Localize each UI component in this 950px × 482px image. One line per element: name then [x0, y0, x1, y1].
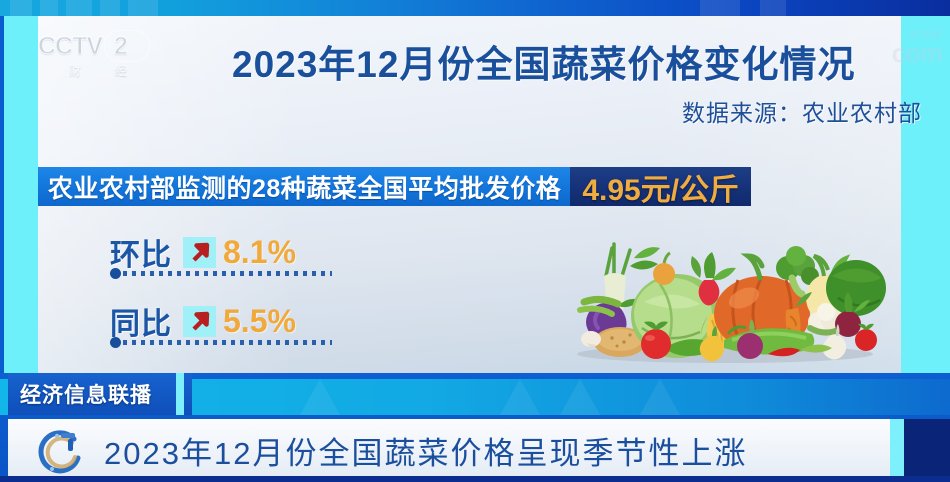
logo-sub-left: 财	[69, 62, 81, 79]
cctv2-logo: CCTV 2 财 经	[38, 32, 150, 84]
stat-value-mom: 8.1%	[223, 234, 296, 271]
logo-sub-right: 经	[115, 62, 127, 79]
bottom-strip	[0, 476, 950, 482]
dotted-underline	[110, 337, 332, 347]
line-start-dot	[110, 268, 121, 279]
cctv-logo-subtitle: 财 经	[52, 62, 144, 79]
cctv-channel-number: 2	[114, 32, 128, 61]
vegetables-illustration	[560, 236, 890, 364]
data-source-label: 数据来源：农业农村部	[682, 94, 922, 128]
up-arrow-icon	[183, 306, 216, 337]
stat-value-yoy: 5.5%	[223, 303, 296, 340]
broadcast-graphic: CCTV 2 财 经 央视网 com 2023年12月份全国蔬菜价格变化情况 数…	[0, 0, 950, 482]
program-ring-logo	[30, 427, 86, 475]
line-start-dot	[110, 337, 121, 348]
price-banner-label: 农业农村部监测的28种蔬菜全国平均批发价格	[38, 167, 570, 206]
right-cyan-rail	[901, 16, 950, 373]
top-gradient-strip	[0, 0, 950, 16]
headline-text: 2023年12月份全国蔬菜价格呈现季节性上涨	[104, 428, 747, 473]
program-tag: 经济信息联播	[8, 373, 192, 415]
price-banner-value: 4.95元/公斤	[570, 167, 751, 206]
up-arrow-icon	[183, 237, 216, 268]
page-title: 2023年12月份全国蔬菜价格变化情况	[232, 34, 855, 88]
left-cyan-rail	[4, 16, 38, 373]
lower-third: 经济信息联播 2023年12月份全国蔬菜价格呈现季节性上涨	[0, 373, 950, 482]
dotted-line	[123, 340, 332, 345]
headline-bar-cap-dark	[904, 419, 950, 482]
dotted-underline	[110, 268, 332, 278]
program-tag-edge	[176, 373, 184, 415]
program-tag-label: 经济信息联播	[20, 379, 152, 409]
price-banner: 农业农村部监测的28种蔬菜全国平均批发价格 4.95元/公斤	[38, 167, 751, 206]
headline-bar-cap	[890, 419, 904, 482]
stat-row-mom: 环比 8.1%	[110, 232, 296, 278]
headline-bar: 2023年12月份全国蔬菜价格呈现季节性上涨	[8, 419, 890, 482]
dotted-line	[123, 271, 332, 276]
stat-row-yoy: 同比 5.5%	[110, 301, 296, 347]
